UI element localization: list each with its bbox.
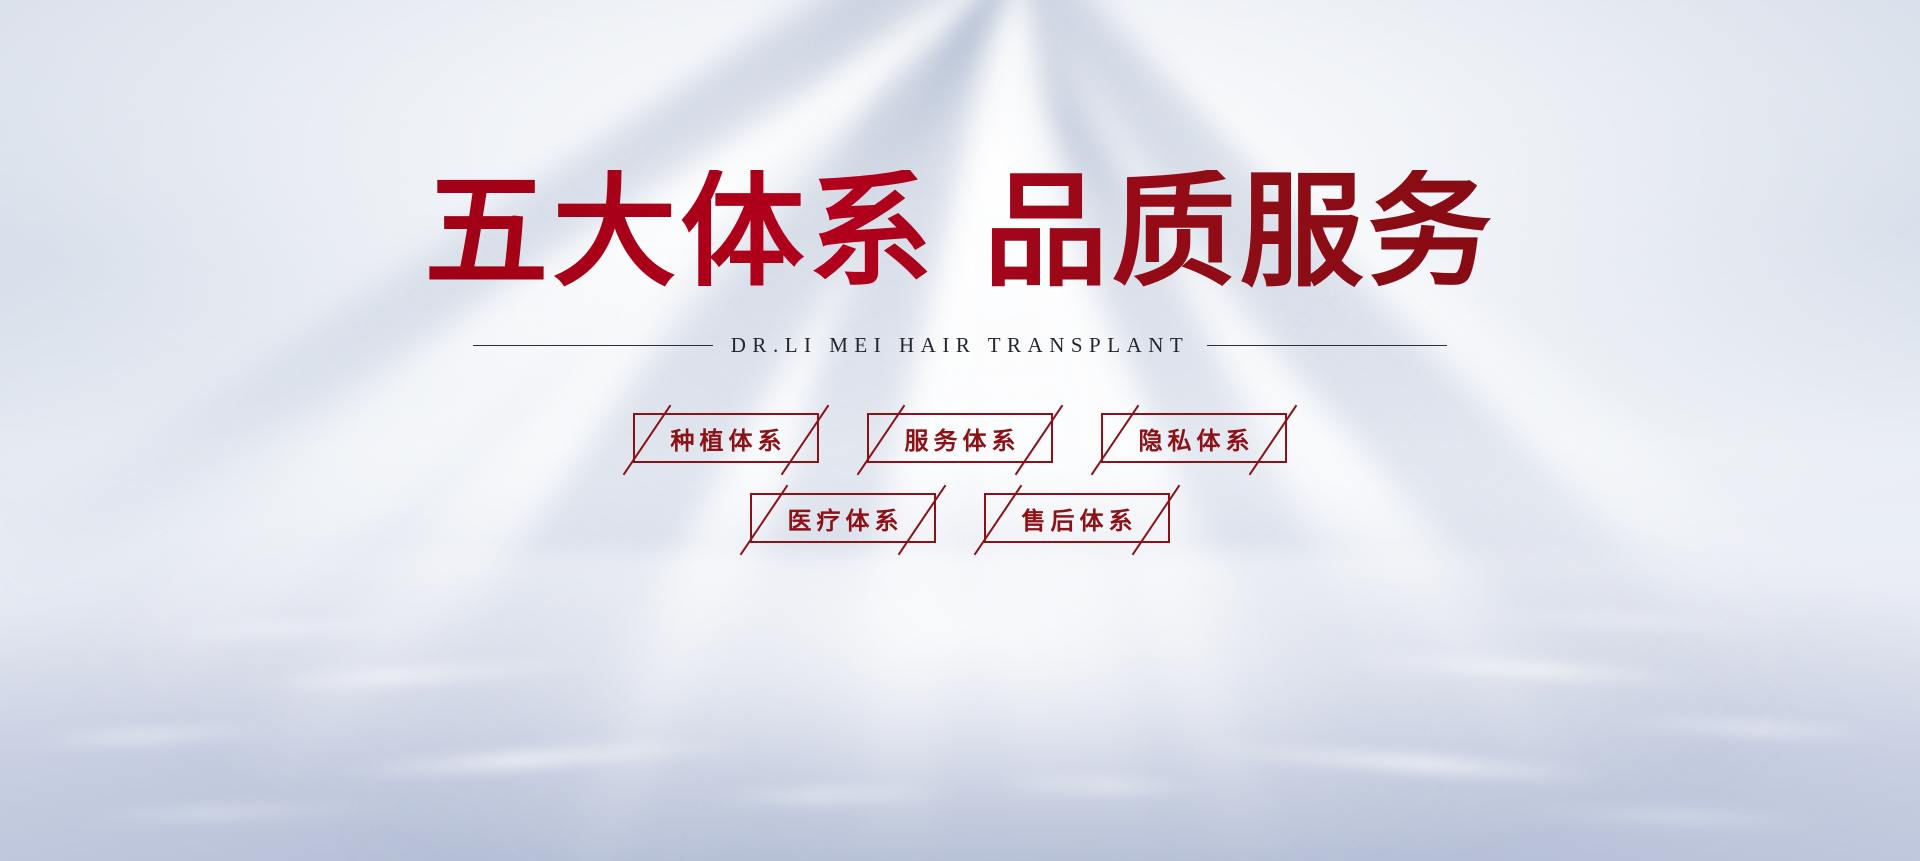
- system-chip-label: 医疗体系: [783, 501, 904, 536]
- system-chip[interactable]: 售后体系: [984, 493, 1170, 543]
- slash-left-icon: [857, 405, 906, 476]
- slash-right-icon: [1132, 485, 1181, 556]
- banner-content: 五大体系 品质服务 DR.LI MEI HAIR TRANSPLANT 种植体系…: [0, 0, 1920, 861]
- page-title: 五大体系 品质服务: [0, 170, 1920, 294]
- system-chip-label: 售后体系: [1017, 501, 1138, 536]
- system-chip[interactable]: 种植体系: [633, 413, 819, 463]
- slash-left-icon: [740, 485, 789, 556]
- system-chip-label: 种植体系: [666, 421, 787, 456]
- system-chip[interactable]: 医疗体系: [750, 493, 936, 543]
- banner-stage: 五大体系 品质服务 DR.LI MEI HAIR TRANSPLANT 种植体系…: [0, 0, 1920, 861]
- system-chip[interactable]: 隐私体系: [1101, 413, 1287, 463]
- system-chip-label: 服务体系: [900, 421, 1021, 456]
- subtitle: DR.LI MEI HAIR TRANSPLANT: [731, 333, 1189, 358]
- slash-left-icon: [623, 405, 672, 476]
- system-chip[interactable]: 服务体系: [867, 413, 1053, 463]
- system-chip-label: 隐私体系: [1134, 421, 1255, 456]
- slash-right-icon: [898, 485, 947, 556]
- divider-line-left: [473, 345, 713, 346]
- system-chip-row-1: 种植体系 服务体系 隐私体系: [0, 413, 1920, 463]
- slash-left-icon: [1091, 405, 1140, 476]
- slash-right-icon: [1015, 405, 1064, 476]
- slash-right-icon: [1249, 405, 1298, 476]
- divider-line-right: [1207, 345, 1447, 346]
- subtitle-row: DR.LI MEI HAIR TRANSPLANT: [0, 333, 1920, 358]
- system-chip-row-2: 医疗体系 售后体系: [0, 493, 1920, 543]
- slash-right-icon: [781, 405, 830, 476]
- slash-left-icon: [974, 485, 1023, 556]
